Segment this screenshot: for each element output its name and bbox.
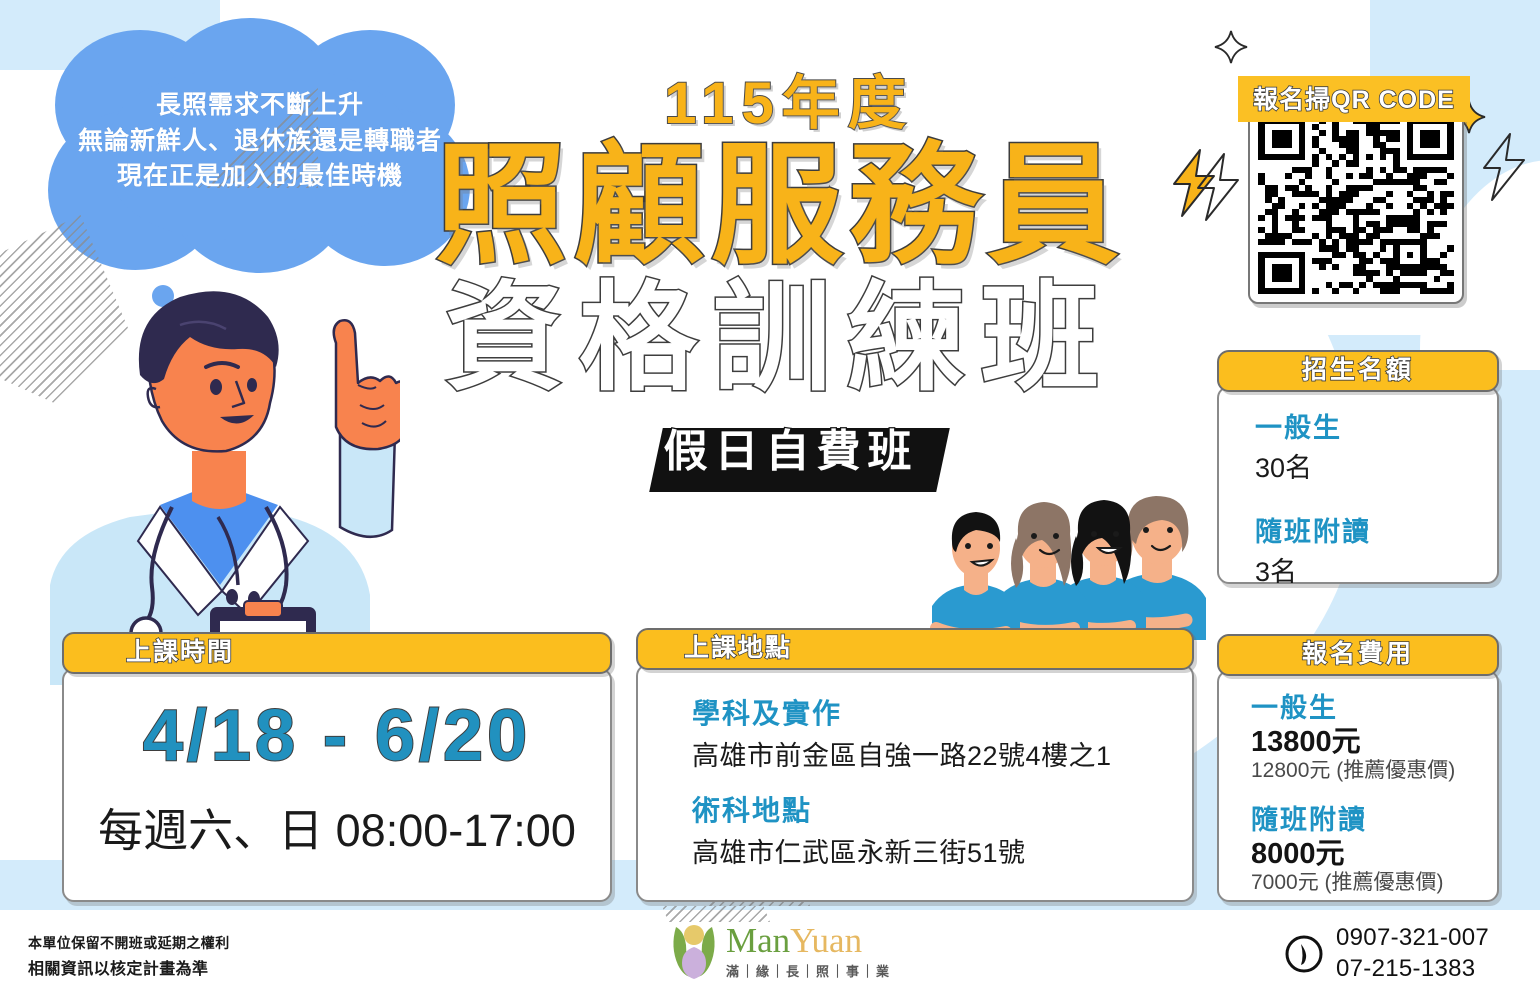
location-address-theory: 高雄市前金區自強一路22號4樓之1 <box>692 734 1192 773</box>
title-main: 照顧服務員 <box>400 139 1160 274</box>
sparkle-icon-top-left <box>1214 30 1248 64</box>
location-card-body: 學科及實作 高雄市前金區自強一路22號4樓之1 術科地點 高雄市仁武區永新三街5… <box>636 664 1194 902</box>
nurses-group-illustration <box>930 480 1210 640</box>
phone-numbers: 0907-321-007 07-215-1383 <box>1336 923 1489 984</box>
time-card-body: 4/18 - 6/20 每週六、日 08:00-17:00 <box>62 668 612 902</box>
footer-note-line-2: 相關資訊以核定計畫為準 <box>28 956 230 983</box>
contact-phone-block[interactable]: 0907-321-007 07-215-1383 <box>1284 923 1489 984</box>
lightning-bolt-icon-outline-right <box>1478 132 1530 202</box>
fee-card-body: 一般生 13800元 12800元 (推薦優惠價) 隨班附讀 8000元 700… <box>1217 670 1499 902</box>
lightning-bolt-icon-outline-left <box>1192 152 1244 222</box>
class-location-card: 上課地點 學科及實作 高雄市前金區自強一路22號4樓之1 術科地點 高雄市仁武區… <box>636 628 1194 902</box>
phone-number-landline: 07-215-1383 <box>1336 954 1489 985</box>
phone-icon <box>1284 934 1324 974</box>
manyuan-logo-icon <box>668 921 720 981</box>
quota-value-auditor: 3名 <box>1255 550 1497 589</box>
fee-card-header: 報名費用 <box>1217 634 1499 676</box>
phone-number-mobile: 0907-321-007 <box>1336 923 1489 954</box>
title-year: 115年度 <box>418 75 1160 133</box>
class-time-card: 上課時間 4/18 - 6/20 每週六、日 08:00-17:00 <box>62 632 612 902</box>
quota-label-general: 一般生 <box>1255 406 1497 445</box>
location-label-theory: 學科及實作 <box>692 692 1192 732</box>
doctor-illustration <box>40 255 400 685</box>
class-schedule: 每週六、日 08:00-17:00 <box>64 794 610 859</box>
title-tag-badge: 假日自費班 <box>650 412 933 484</box>
location-label-practice: 術科地點 <box>692 789 1192 829</box>
footer-disclaimer: 本單位保留不開班或延期之權利 相關資訊以核定計畫為準 <box>28 932 230 983</box>
qr-banner-label: 報名掃QR CODE <box>1238 76 1470 122</box>
class-date-range: 4/18 - 6/20 <box>64 700 610 772</box>
fee-label-auditor: 隨班附讀 <box>1251 798 1497 837</box>
qr-code-card[interactable] <box>1248 108 1464 304</box>
location-address-practice: 高雄市仁武區永新三街51號 <box>692 831 1192 870</box>
time-card-header: 上課時間 <box>62 632 612 674</box>
fee-price-general: 13800元 <box>1251 726 1497 758</box>
logo-text-block: ManYuan 滿｜緣｜長｜照｜事｜業 <box>726 923 891 980</box>
footer-note-line-1: 本單位保留不開班或延期之權利 <box>28 932 230 956</box>
location-card-header: 上課地點 <box>636 628 1194 670</box>
quota-card-header: 招生名額 <box>1217 350 1499 392</box>
enrollment-quota-card: 招生名額 一般生 30名 隨班附讀 3名 <box>1217 350 1499 584</box>
quota-card-body: 一般生 30名 隨班附讀 3名 <box>1217 386 1499 584</box>
quota-label-auditor: 隨班附讀 <box>1255 510 1497 549</box>
poster-root: 長照需求不斷上升 無論新鮮人、退休族還是轉職者 現在正是加入的最佳時機 115年… <box>0 0 1540 1000</box>
title-tag-wrapper: 假日自費班 <box>400 412 1160 484</box>
qr-code-image <box>1258 118 1454 294</box>
fee-promo-auditor: 7000元 (推薦優惠價) <box>1251 870 1497 895</box>
logo-word-man: Man <box>726 921 790 960</box>
logo-word-yuan: Yuan <box>790 921 862 960</box>
logo-tagline: 滿｜緣｜長｜照｜事｜業 <box>726 961 891 980</box>
fee-price-auditor: 8000元 <box>1251 838 1497 870</box>
title-subtitle: 資格訓練班 <box>400 278 1160 402</box>
poster-title-block: 115年度 照顧服務員 資格訓練班 假日自費班 <box>400 75 1160 484</box>
quota-value-general: 30名 <box>1255 446 1497 485</box>
registration-fee-card: 報名費用 一般生 13800元 12800元 (推薦優惠價) 隨班附讀 8000… <box>1217 634 1499 902</box>
logo-wordmark: ManYuan <box>726 923 891 958</box>
company-logo: ManYuan 滿｜緣｜長｜照｜事｜業 <box>668 921 891 981</box>
fee-promo-general: 12800元 (推薦優惠價) <box>1251 758 1497 783</box>
fee-label-general: 一般生 <box>1251 686 1497 725</box>
